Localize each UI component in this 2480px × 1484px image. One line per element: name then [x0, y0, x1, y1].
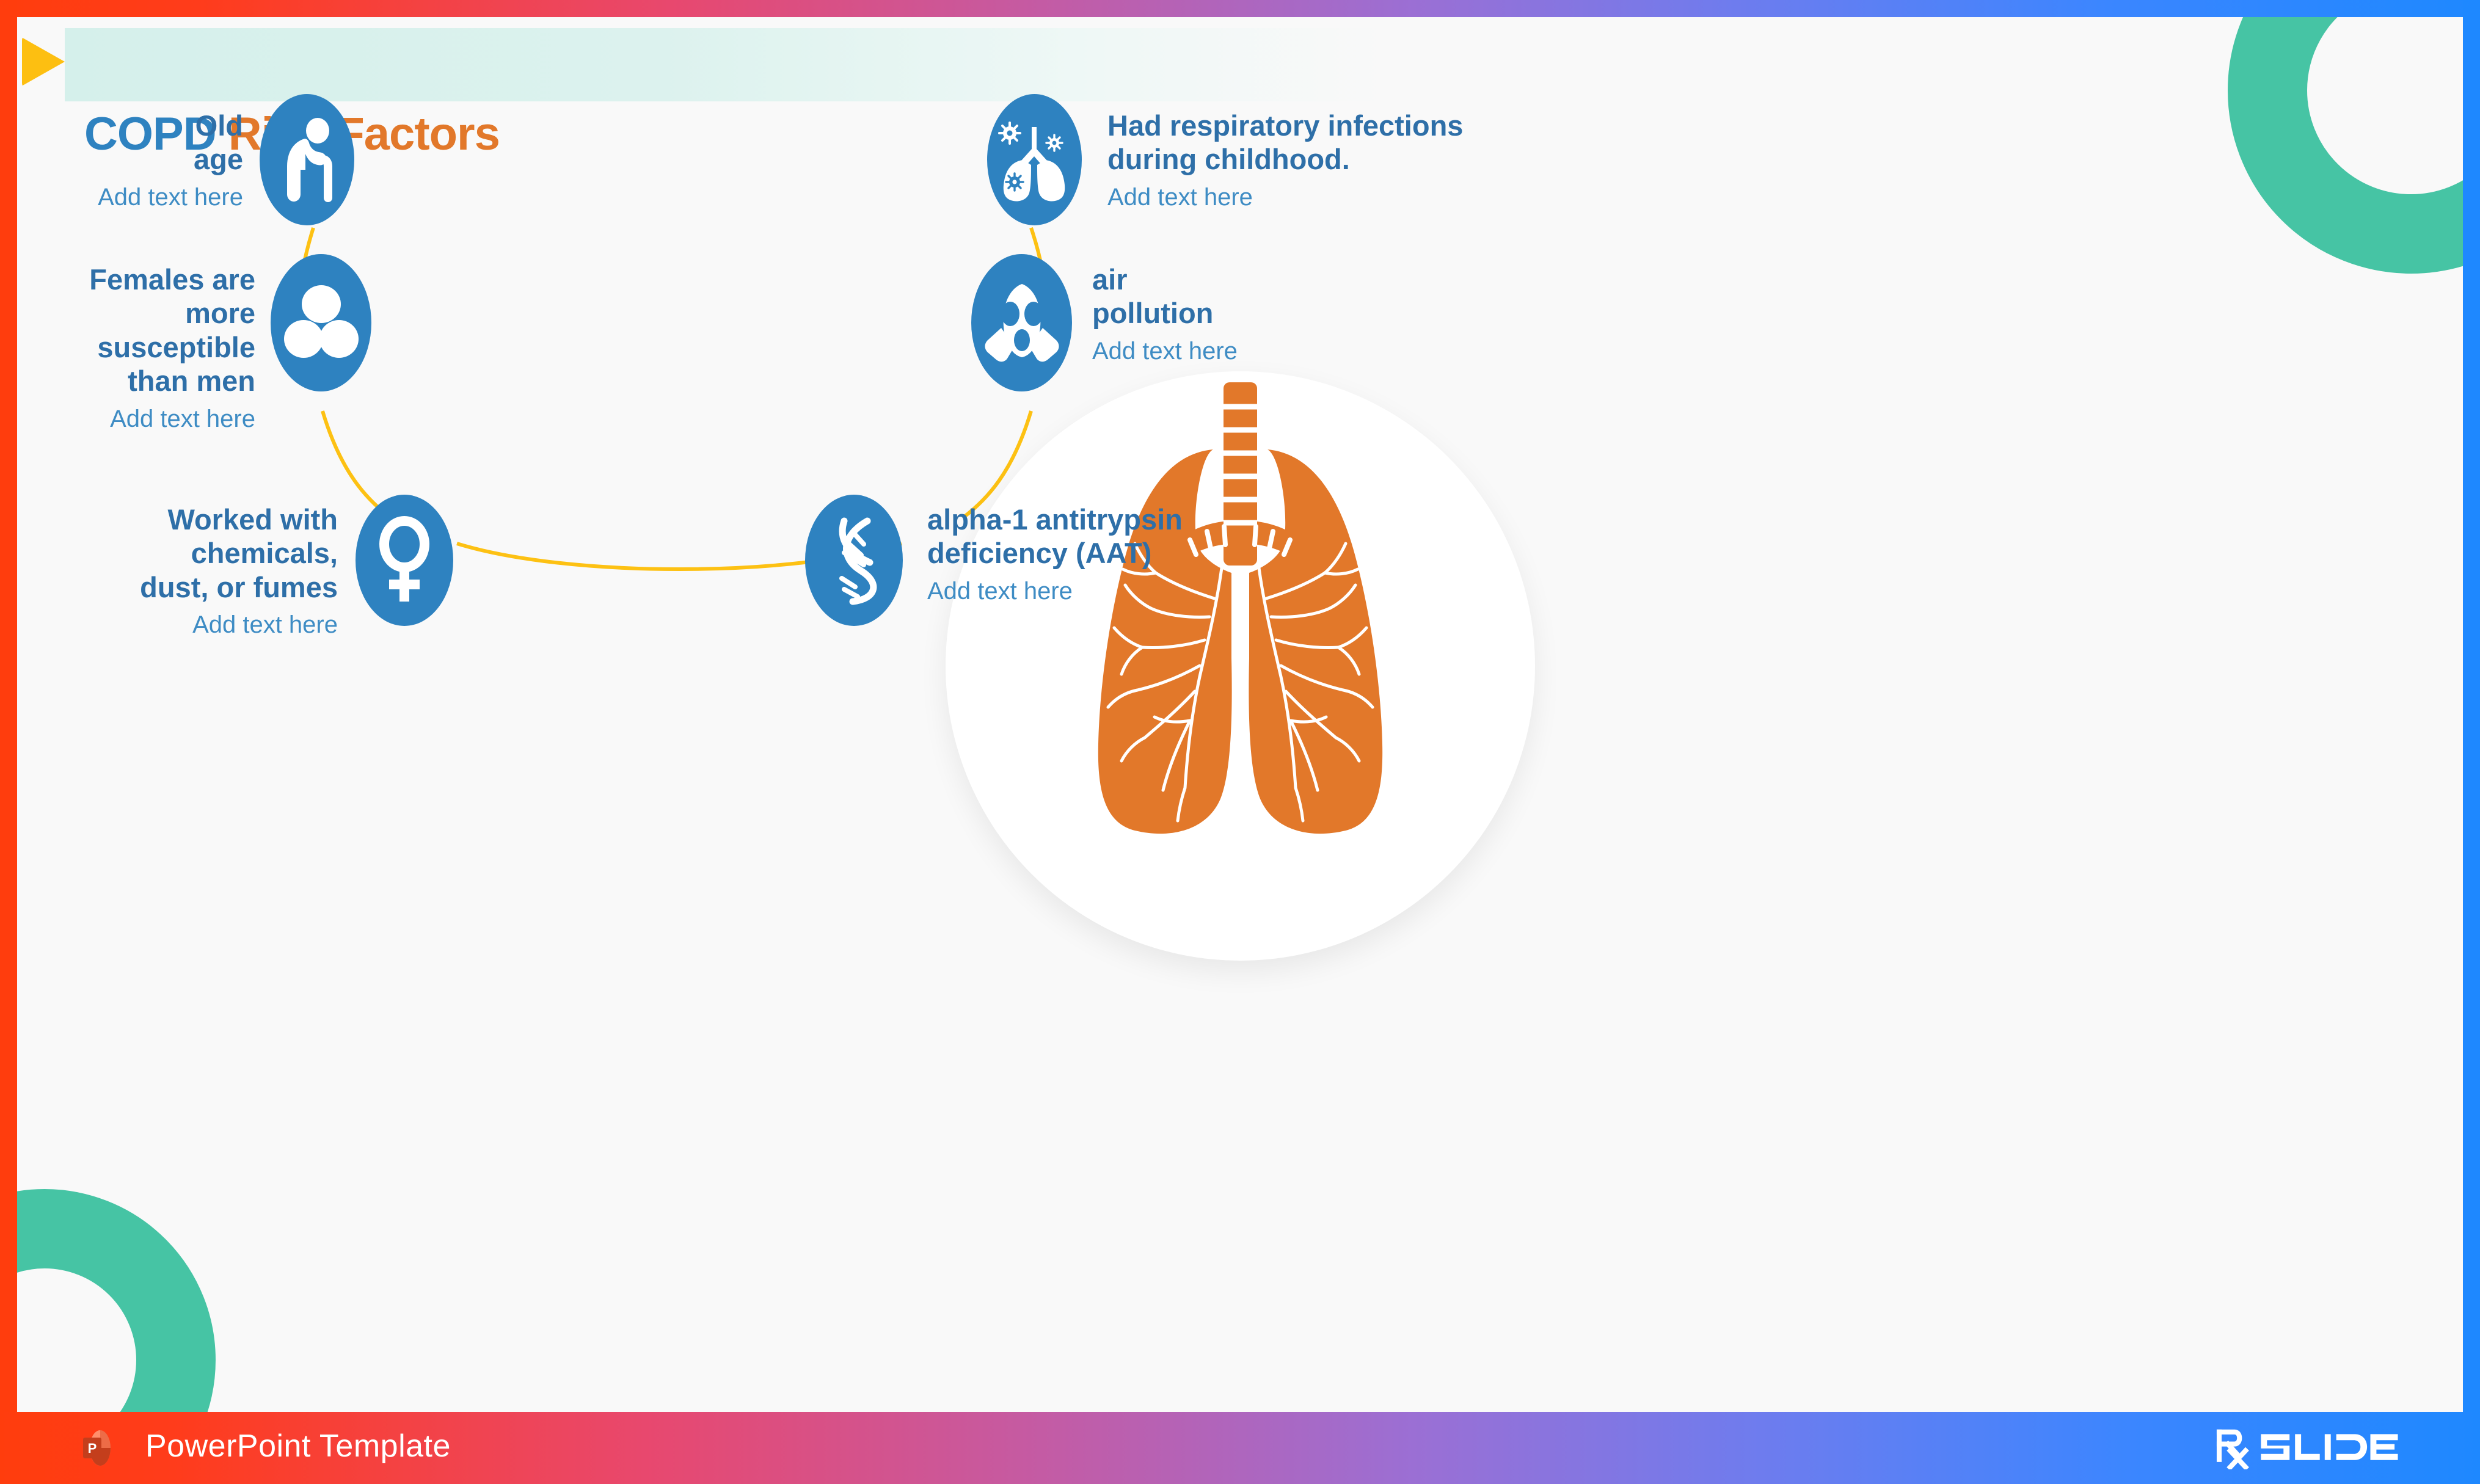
top-gradient-border — [0, 0, 2480, 17]
rxslides-logo — [2214, 1425, 2401, 1469]
risk-label-chemicals-dust-fumes: Worked with chemicals, dust, or fumes Ad… — [97, 503, 338, 641]
lungs-svg — [946, 371, 1535, 961]
decorative-ring-top-right — [2228, 17, 2463, 274]
risk-title-aat-deficiency: alpha-1 antitrypsin deficiency (AAT) — [927, 503, 1343, 570]
three-circles-group-icon — [284, 284, 359, 362]
risk-label-respiratory-infections: Had respiratory infections during childh… — [1107, 109, 1633, 213]
female-venus-symbol-icon — [374, 515, 435, 606]
risk-title-old-age: Old age — [54, 109, 243, 176]
footer-label: PowerPoint Template — [145, 1428, 451, 1464]
risk-title-respiratory-infections: Had respiratory infections during childh… — [1107, 109, 1633, 176]
risk-subtitle-females-susceptible: Add text here — [29, 403, 255, 435]
left-border — [0, 0, 17, 1484]
gas-mask-icon — [983, 280, 1061, 366]
risk-label-air-pollution: air pollution Add text here — [1092, 263, 1434, 367]
decorative-ring-bottom-left — [17, 1189, 216, 1412]
play-triangle-icon — [22, 34, 65, 89]
svg-text:P: P — [88, 1441, 97, 1456]
risk-icon-air-pollution[interactable] — [971, 254, 1072, 391]
right-border — [2463, 0, 2480, 1484]
risk-title-chemicals-dust-fumes: Worked with chemicals, dust, or fumes — [97, 503, 338, 604]
risk-subtitle-chemicals-dust-fumes: Add text here — [97, 609, 338, 641]
slide-root: COPD Risk Factors — [0, 0, 2480, 1484]
risk-icon-chemicals-dust-fumes[interactable] — [356, 495, 453, 626]
title-band — [65, 28, 1384, 101]
powerpoint-icon: P — [79, 1429, 117, 1467]
dna-helix-icon — [817, 515, 891, 606]
risk-icon-aat-deficiency[interactable] — [805, 495, 903, 626]
risk-subtitle-aat-deficiency: Add text here — [927, 575, 1343, 607]
lungs-with-virus-icon — [996, 117, 1073, 203]
risk-label-old-age: Old age Add text here — [54, 109, 243, 213]
risk-icon-old-age[interactable] — [260, 94, 354, 225]
slide-canvas: COPD Risk Factors — [17, 17, 2463, 1412]
risk-title-air-pollution: air pollution — [1092, 263, 1434, 330]
risk-icon-females-susceptible[interactable] — [271, 254, 371, 391]
risk-label-females-susceptible: Females are more susceptible than men Ad… — [29, 263, 255, 435]
risk-title-females-susceptible: Females are more susceptible than men — [29, 263, 255, 398]
footer-bar: P PowerPoint Template — [0, 1412, 2480, 1484]
risk-subtitle-old-age: Add text here — [54, 181, 243, 213]
risk-subtitle-respiratory-infections: Add text here — [1107, 181, 1633, 213]
elderly-person-with-cane-icon — [274, 117, 341, 203]
risk-icon-respiratory-infections[interactable] — [987, 94, 1082, 225]
risk-subtitle-air-pollution: Add text here — [1092, 335, 1434, 367]
lungs-illustration — [946, 371, 1535, 961]
risk-label-aat-deficiency: alpha-1 antitrypsin deficiency (AAT) Add… — [927, 503, 1343, 607]
